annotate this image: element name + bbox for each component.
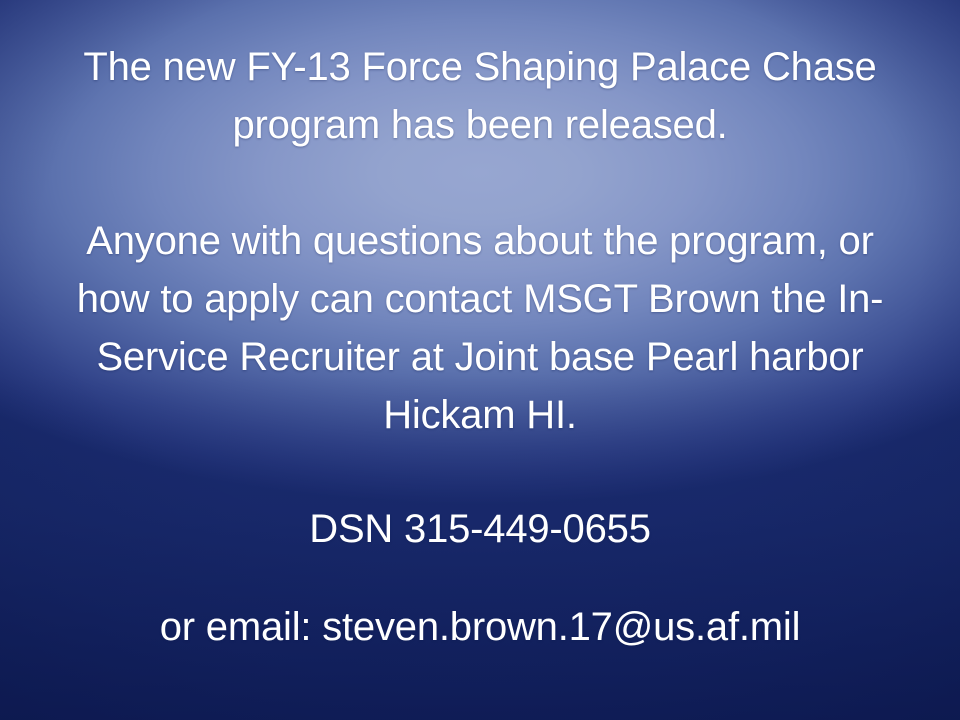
announcement-intro-paragraph: The new FY-13 Force Shaping Palace Chase… [50,38,910,154]
contact-email-line: or email: steven.brown.17@us.af.mil [50,598,910,656]
announcement-body-paragraph: Anyone with questions about the program,… [50,212,910,444]
slide-text-content: The new FY-13 Force Shaping Palace Chase… [0,0,960,720]
contact-phone-line: DSN 315-449-0655 [50,500,910,558]
presentation-slide: The new FY-13 Force Shaping Palace Chase… [0,0,960,720]
